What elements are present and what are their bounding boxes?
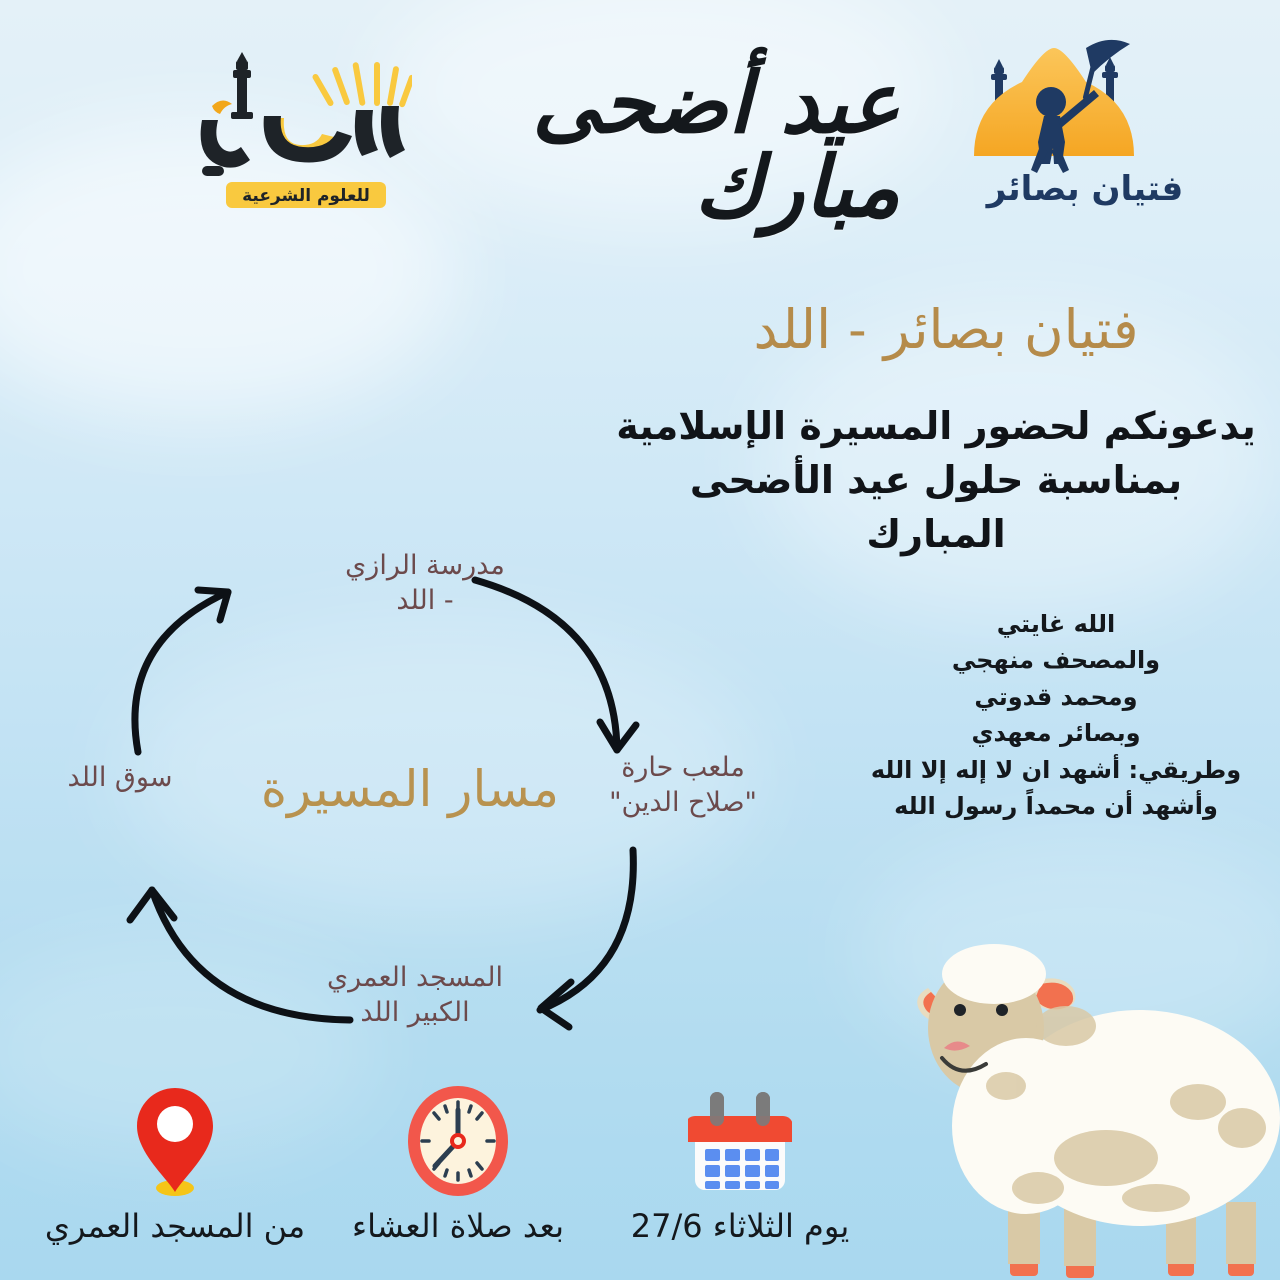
organization-heading: فتيان بصائر - اللد xyxy=(646,300,1246,359)
detail-place: من المسجد العمري xyxy=(30,1082,320,1246)
route-node-line: المسجد العمري xyxy=(250,960,580,995)
motto-block: الله غايتي والمصحف منهجي ومحمد قدوتي وبص… xyxy=(856,606,1256,825)
detail-time: بعد صلاة العشاء xyxy=(318,1082,598,1246)
eid-poster: للعلوم الشرعية عيد أضحى مبارك xyxy=(0,0,1280,1280)
fityan-basair-dome-boy-flag-logo: فتيان بصائر xyxy=(958,24,1212,220)
time-label: بعد صلاة العشاء xyxy=(318,1206,598,1246)
invitation-line-1: يدعونكم لحضور المسيرة الإسلامية xyxy=(616,400,1256,454)
motto-line: وأشهد أن محمداً رسول الله xyxy=(856,788,1256,824)
route-node-line: مدرسة الرازي xyxy=(260,548,590,583)
arc-left-to-top xyxy=(135,592,228,752)
date-label: يوم الثلاثاء 27/6 xyxy=(590,1206,890,1246)
calendar-icon xyxy=(590,1082,890,1200)
place-label: من المسجد العمري xyxy=(30,1206,320,1246)
basair-minaret-sun-logo: للعلوم الشرعية xyxy=(168,46,412,214)
location-pin-icon xyxy=(30,1082,320,1200)
motto-line: والمصحف منهجي xyxy=(856,642,1256,678)
svg-text:للعلوم الشرعية: للعلوم الشرعية xyxy=(242,186,370,206)
arrowhead-to-left xyxy=(130,890,174,920)
fityan-basair-logo: فتيان بصائر xyxy=(958,24,1212,220)
route-node-line: "صلاح الدين" xyxy=(568,785,798,820)
route-node-line: الكبير اللد xyxy=(250,995,580,1030)
motto-line: وطريقي: أشهد ان لا إله إلا الله xyxy=(856,752,1256,788)
route-node-line: - اللد xyxy=(260,583,590,618)
motto-line: الله غايتي xyxy=(856,606,1256,642)
clock-icon xyxy=(318,1082,598,1200)
motto-line: وبصائر معهدي xyxy=(856,715,1256,751)
route-node-souq-allid: سوق اللد xyxy=(10,760,230,795)
route-node-line: سوق اللد xyxy=(10,760,230,795)
route-node-madrasat-alrazi: مدرسة الرازي - اللد xyxy=(260,548,590,618)
event-details-row: يوم الثلاثاء 27/6 xyxy=(0,1080,1280,1280)
route-node-malab-salahaddin: ملعب حارة "صلاح الدين" xyxy=(568,750,798,820)
motto-line: ومحمد قدوتي xyxy=(856,679,1256,715)
svg-text:فتيان بصائر: فتيان بصائر xyxy=(985,169,1184,209)
route-node-line: ملعب حارة xyxy=(568,750,798,785)
basair-logo: للعلوم الشرعية xyxy=(168,46,412,214)
eid-greeting-calligraphy: عيد أضحى مبارك xyxy=(430,70,900,220)
route-cycle-diagram: مسار المسيرة مدرسة الرازي - اللد ملعب حا… xyxy=(20,520,820,1100)
cycle-center-label: مسار المسيرة xyxy=(210,760,610,818)
route-node-masjid-alomari: المسجد العمري الكبير اللد xyxy=(250,960,580,1030)
detail-date: يوم الثلاثاء 27/6 xyxy=(590,1082,890,1246)
